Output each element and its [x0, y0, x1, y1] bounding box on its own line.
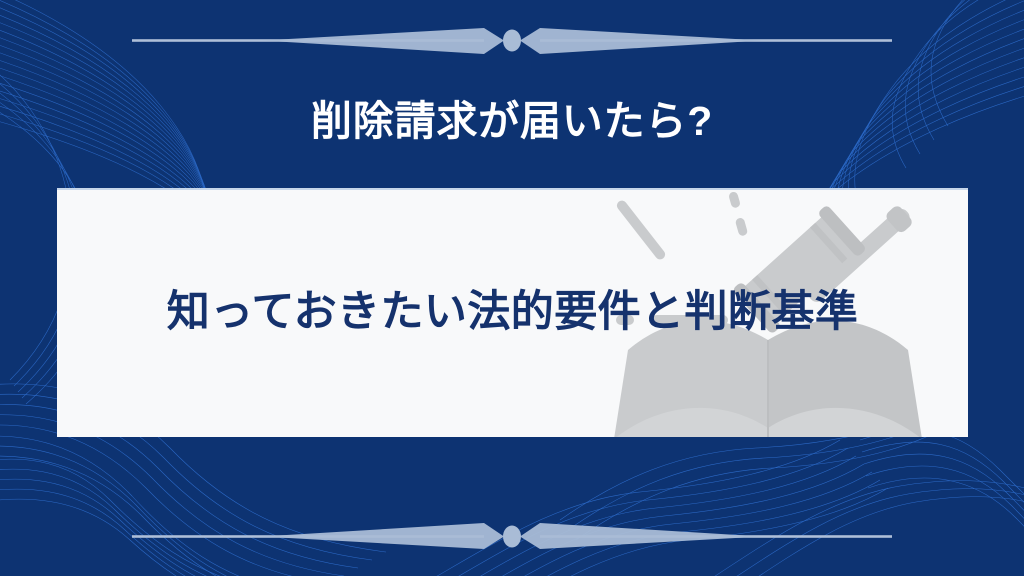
bottom-divider — [132, 514, 892, 558]
divider-center-ornament — [503, 30, 521, 52]
page-title: 削除請求が届いたら? — [0, 96, 1024, 147]
page-subtitle: 知っておきたい法的要件と判断基準 — [57, 286, 968, 340]
divider-center-ornament — [503, 526, 521, 548]
slide-canvas: 削除請求が届いたら? — [0, 0, 1024, 576]
divider-wing-right — [520, 523, 762, 549]
content-card: 知っておきたい法的要件と判断基準 — [57, 188, 968, 437]
top-divider — [132, 19, 892, 63]
divider-wing-right — [520, 28, 762, 54]
divider-wing-left — [262, 28, 504, 54]
divider-wing-left — [262, 523, 504, 549]
